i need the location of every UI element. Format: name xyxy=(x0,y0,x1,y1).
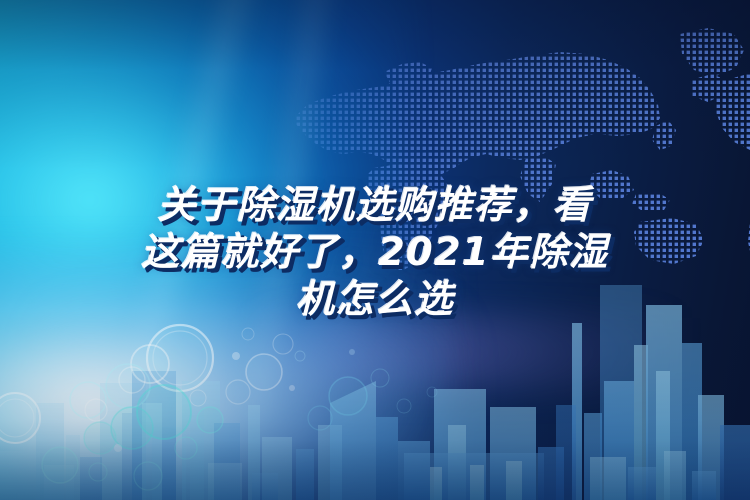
title-line-3: 机怎么选 xyxy=(0,276,750,323)
title-line-2: 这篇就好了，2021年除湿 xyxy=(0,229,750,276)
banner-title: 关于除湿机选购推荐，看 这篇就好了，2021年除湿 机怎么选 xyxy=(0,182,750,323)
promo-banner: 关于除湿机选购推荐，看 这篇就好了，2021年除湿 机怎么选 xyxy=(0,0,750,500)
title-line-1: 关于除湿机选购推荐，看 xyxy=(0,182,750,229)
bottom-shade xyxy=(0,440,750,500)
